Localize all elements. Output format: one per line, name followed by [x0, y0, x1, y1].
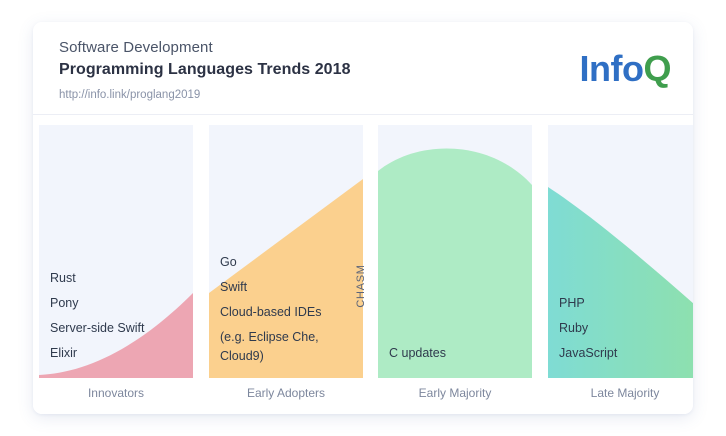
title-block: Software Development Programming Languag… — [59, 37, 351, 103]
list-item: Cloud-based IDEs — [220, 300, 359, 325]
innovators-item-list: Rust Pony Server-side Swift Elixir — [50, 266, 189, 366]
source-url: http://info.link/proglang2019 — [59, 87, 351, 103]
page-title: Programming Languages Trends 2018 — [59, 59, 351, 81]
chasm-text: CHASM — [355, 264, 367, 307]
axis-label-late-majority: Late Majority — [548, 384, 693, 402]
list-item: C updates — [389, 341, 528, 366]
card-header: Software Development Programming Languag… — [33, 22, 693, 115]
axis-label-innovators: Innovators — [39, 384, 193, 402]
logo-text-q: Q — [643, 48, 671, 89]
list-item: Elixir — [50, 341, 189, 366]
late-majority-item-list: PHP Ruby JavaScript — [559, 291, 693, 366]
list-item: Rust — [50, 266, 189, 291]
chart-column-innovators: Rust Pony Server-side Swift Elixir — [39, 125, 193, 378]
chart-column-late-majority: PHP Ruby JavaScript — [548, 125, 693, 378]
axis-label-early-majority: Early Majority — [378, 384, 532, 402]
list-item: Ruby — [559, 316, 693, 341]
list-item: (e.g. Eclipse Che, Cloud9) — [220, 328, 359, 366]
infoq-logo: InfoQ — [580, 49, 672, 89]
category-axis-labels: Innovators Early Adopters Early Majority… — [33, 384, 693, 414]
adoption-curve-chart: Rust Pony Server-side Swift Elixir Go Sw… — [33, 116, 693, 414]
list-item: Pony — [50, 291, 189, 316]
list-item: Swift — [220, 275, 359, 300]
trends-card: Software Development Programming Languag… — [33, 22, 693, 414]
early-adopters-item-list: Go Swift Cloud-based IDEs (e.g. Eclipse … — [220, 250, 359, 366]
eyebrow-text: Software Development — [59, 37, 351, 58]
early-majority-item-list: C updates — [389, 341, 528, 366]
list-item: Go — [220, 250, 359, 275]
chart-column-early-adopters: Go Swift Cloud-based IDEs (e.g. Eclipse … — [209, 125, 363, 378]
list-item: Server-side Swift — [50, 316, 189, 341]
axis-label-early-adopters: Early Adopters — [209, 384, 363, 402]
chart-column-early-majority: C updates — [378, 125, 532, 378]
list-item: PHP — [559, 291, 693, 316]
logo-text-info: Info — [580, 48, 644, 89]
list-item: JavaScript — [559, 341, 693, 366]
chasm-label: CHASM — [354, 256, 368, 316]
